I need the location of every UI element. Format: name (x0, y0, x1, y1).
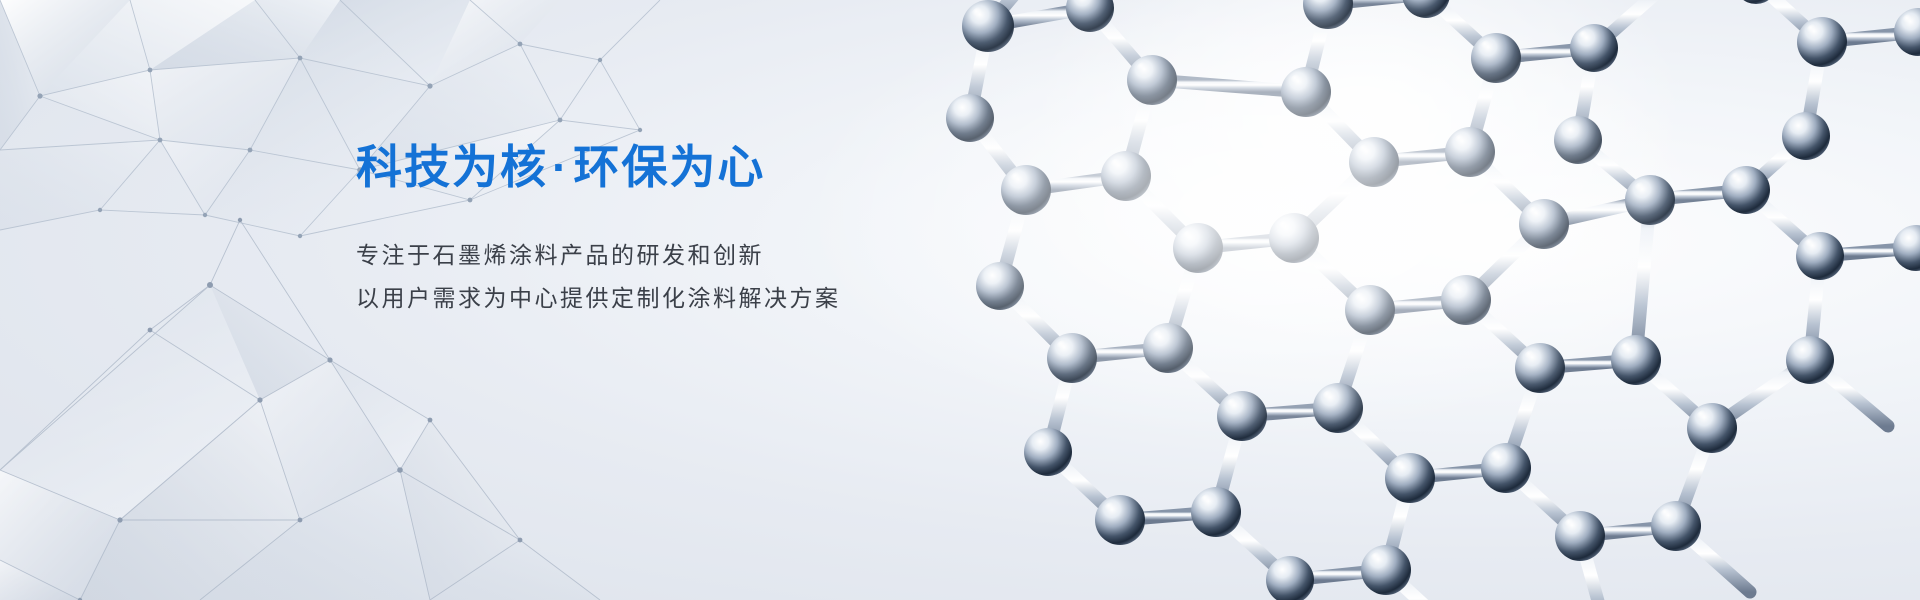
headline-separator: · (548, 141, 573, 193)
page-title: 科技为核·环保为心 (356, 140, 1056, 194)
hero-banner: 科技为核·环保为心 专注于石墨烯涂料产品的研发和创新 以用户需求为中心提供定制化… (0, 0, 1920, 600)
subtitle-line-2: 以用户需求为中心提供定制化涂料解决方案 (356, 277, 1056, 320)
headline-part-1: 科技为核 (356, 141, 548, 193)
graphene-hexagon-lattice (930, 0, 1920, 600)
subtitle-line-1: 专注于石墨烯涂料产品的研发和创新 (356, 234, 1056, 277)
hero-copy: 科技为核·环保为心 专注于石墨烯涂料产品的研发和创新 以用户需求为中心提供定制化… (356, 140, 1056, 320)
headline-part-2: 环保为心 (573, 141, 765, 193)
hero-subtitle: 专注于石墨烯涂料产品的研发和创新 以用户需求为中心提供定制化涂料解决方案 (356, 234, 1056, 320)
